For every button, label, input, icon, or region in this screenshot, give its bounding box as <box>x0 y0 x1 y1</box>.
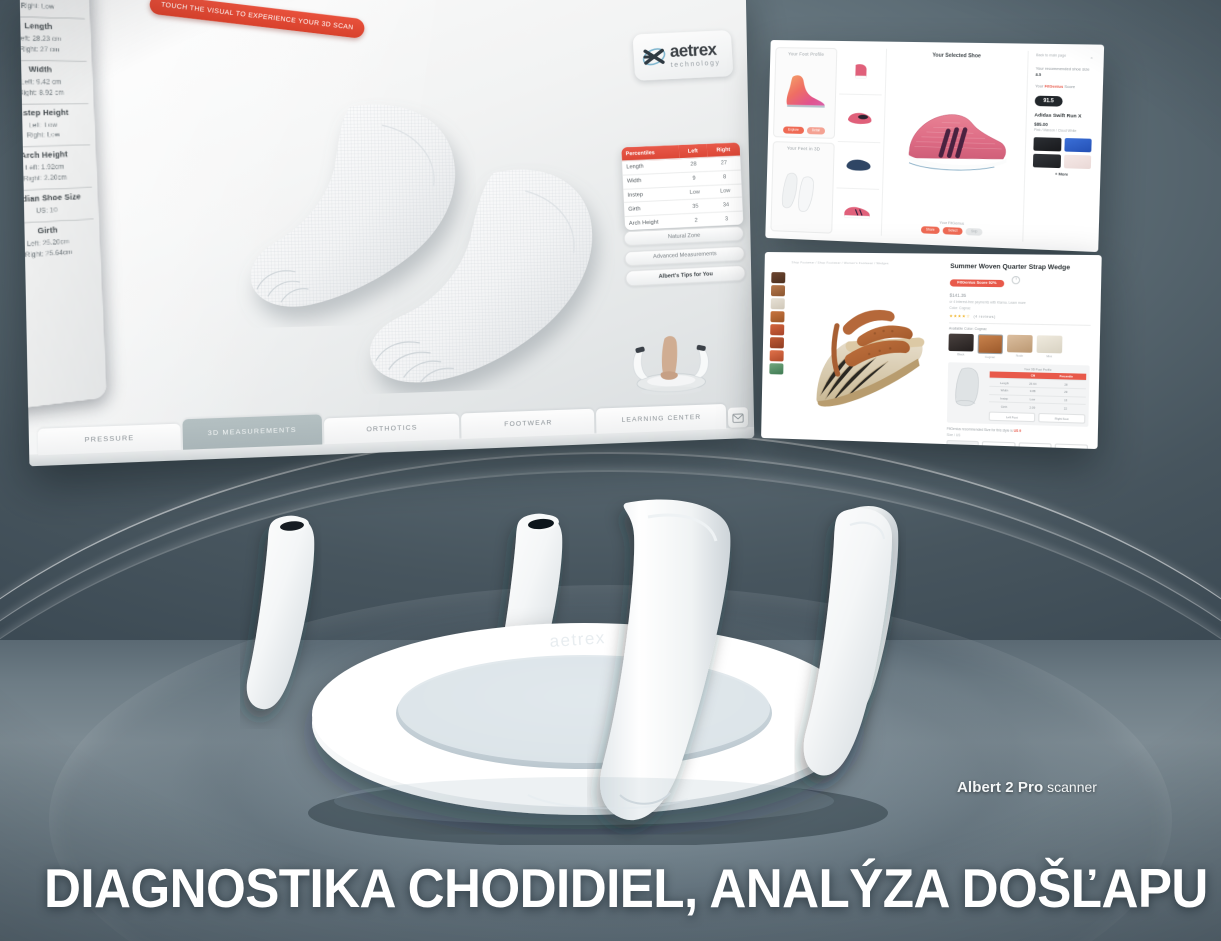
scanner-tower-rear-left <box>247 515 314 709</box>
headline: DIAGNOSTIKA CHODIDIEL, ANALÝZA DOŠĽAPU <box>44 856 1208 920</box>
scanner-type: scanner <box>1043 779 1097 795</box>
scanner-tower-front-right <box>804 508 892 775</box>
studio-scene: Arch Type Left: Medium Right: Low Length… <box>0 0 1221 941</box>
scanner-caption: Albert 2 Pro scanner <box>957 779 1097 797</box>
scanner-name: Albert 2 Pro <box>957 779 1043 796</box>
scanner-brand-emboss: aetrex <box>549 628 606 651</box>
albert-2-pro-scanner: aetrex <box>228 495 968 845</box>
